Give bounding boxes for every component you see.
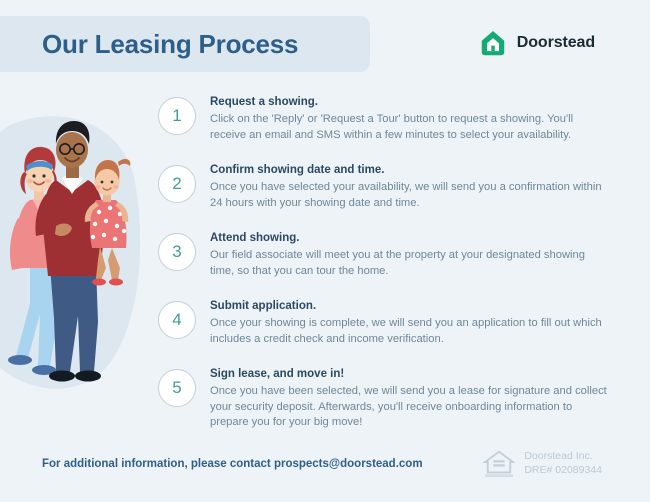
step-item: 4 Submit application. Once your showing … bbox=[158, 298, 628, 347]
step-description: Our field associate will meet you at the… bbox=[210, 248, 610, 279]
step-content: Request a showing. Click on the 'Reply' … bbox=[210, 94, 610, 143]
step-content: Sign lease, and move in! Once you have b… bbox=[210, 366, 610, 431]
brand-logo: Doorstead bbox=[478, 28, 595, 58]
family-illustration bbox=[0, 108, 152, 398]
step-item: 3 Attend showing. Our field associate wi… bbox=[158, 230, 628, 279]
step-number-badge: 4 bbox=[158, 301, 196, 339]
step-description: Once your showing is complete, we will s… bbox=[210, 316, 610, 347]
step-title: Sign lease, and move in! bbox=[210, 367, 610, 382]
legal-block: Doorstead Inc. DRE# 02089344 bbox=[483, 448, 602, 478]
step-content: Submit application. Once your showing is… bbox=[210, 298, 610, 347]
step-description: Once you have been selected, we will sen… bbox=[210, 384, 610, 431]
step-title: Confirm showing date and time. bbox=[210, 163, 610, 178]
step-content: Attend showing. Our field associate will… bbox=[210, 230, 610, 279]
step-item: 2 Confirm showing date and time. Once yo… bbox=[158, 162, 628, 211]
company-name: Doorstead Inc. bbox=[524, 449, 602, 463]
page-title: Our Leasing Process bbox=[42, 29, 298, 60]
step-number-badge: 2 bbox=[158, 165, 196, 203]
title-banner: Our Leasing Process bbox=[0, 16, 370, 72]
step-title: Attend showing. bbox=[210, 231, 610, 246]
step-content: Confirm showing date and time. Once you … bbox=[210, 162, 610, 211]
step-number-badge: 1 bbox=[158, 97, 196, 135]
step-item: 1 Request a showing. Click on the 'Reply… bbox=[158, 94, 628, 143]
step-title: Submit application. bbox=[210, 299, 610, 314]
step-number-badge: 5 bbox=[158, 369, 196, 407]
house-icon bbox=[478, 28, 508, 58]
license-number: DRE# 02089344 bbox=[524, 463, 602, 477]
step-title: Request a showing. bbox=[210, 95, 610, 110]
step-item: 5 Sign lease, and move in! Once you have… bbox=[158, 366, 628, 431]
steps-list: 1 Request a showing. Click on the 'Reply… bbox=[158, 94, 628, 450]
legal-lines: Doorstead Inc. DRE# 02089344 bbox=[524, 449, 602, 477]
equal-housing-opportunity-icon bbox=[483, 448, 515, 478]
contact-text: For additional information, please conta… bbox=[42, 458, 423, 470]
step-description: Once you have selected your availability… bbox=[210, 180, 610, 211]
step-number-badge: 3 bbox=[158, 233, 196, 271]
brand-name: Doorstead bbox=[517, 34, 595, 52]
step-description: Click on the 'Reply' or 'Request a Tour'… bbox=[210, 112, 610, 143]
